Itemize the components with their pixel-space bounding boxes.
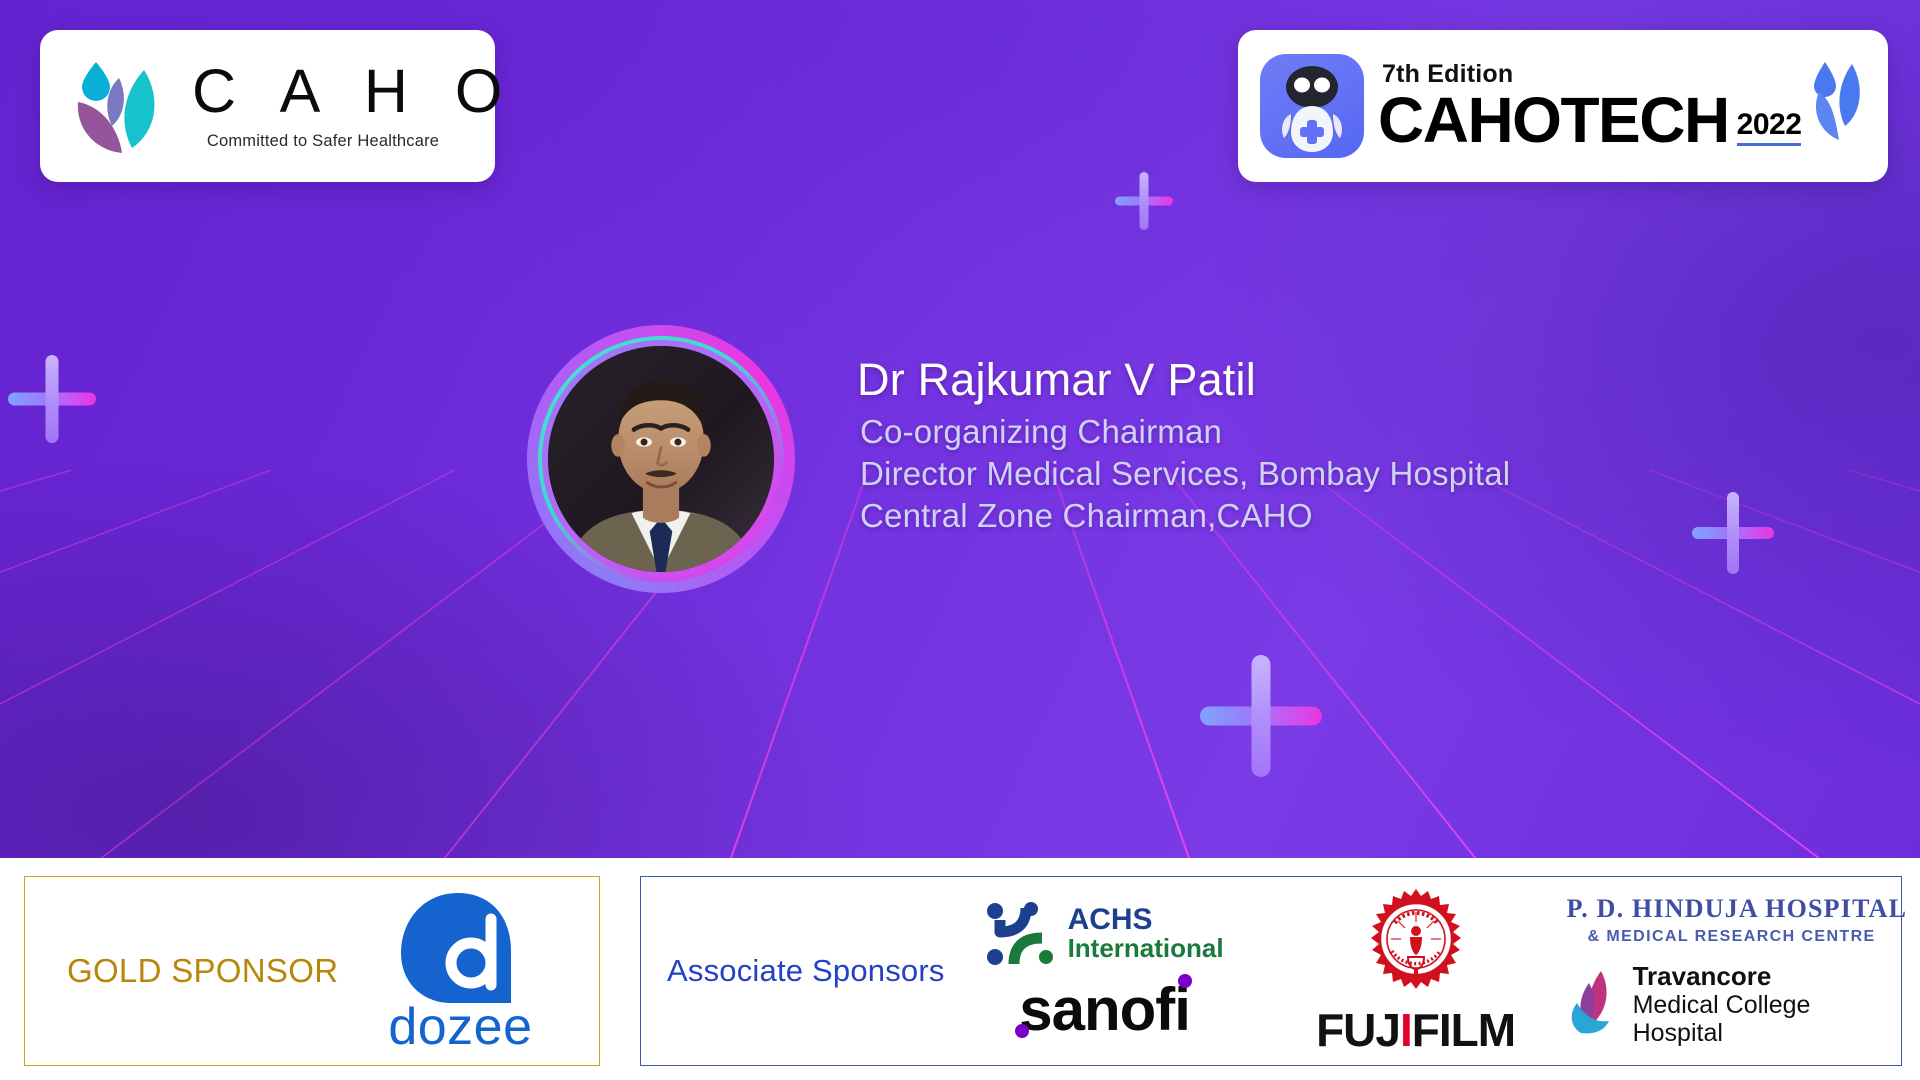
- associate-sponsors-panel: Associate Sponsors: [640, 876, 1902, 1066]
- dozee-droplet-d-icon: [395, 889, 525, 1007]
- speaker-text-block: Dr Rajkumar V Patil Co-organizing Chairm…: [857, 355, 1737, 537]
- plus-center-bottom-icon: [1200, 655, 1322, 777]
- hinduja-line-1: P. D. HINDUJA HOSPITAL: [1567, 895, 1897, 924]
- caho-letters: C A H O: [192, 61, 517, 122]
- achs-line-2: International: [1068, 935, 1224, 962]
- fujifilm-wordmark: FUJIFILM: [1316, 1007, 1515, 1053]
- portrait-inner-ring-violet: [542, 340, 780, 578]
- dozee-wordmark: dozee: [388, 1001, 532, 1053]
- logo-group-hinduja-travancore: P. D. HINDUJA HOSPITAL & MEDICAL RESEARC…: [1567, 895, 1897, 1047]
- sanofi-logo: sanofi: [1019, 980, 1190, 1040]
- speaker-role-line-3: Central Zone Chairman,CAHO: [860, 495, 1737, 537]
- dozee-logo: dozee: [388, 889, 532, 1053]
- associate-sponsor-logos: ACHS International sanofi: [945, 889, 1913, 1053]
- plus-left-middle-icon: [8, 355, 96, 443]
- caho-wordmark: C A H O Committed to Safer Healthcare: [192, 61, 517, 151]
- achs-dots-icon: [986, 902, 1058, 966]
- edition-label: 7th Edition: [1382, 62, 1801, 87]
- cahotech-title: CAHOTECH: [1378, 90, 1729, 151]
- achs-line-1: ACHS: [1068, 905, 1224, 935]
- sanofi-dot-top-icon: [1178, 974, 1192, 988]
- speaker-photo: [548, 346, 774, 572]
- hinduja-line-2: & MEDICAL RESEARCH CENTRE: [1567, 927, 1897, 946]
- gold-sponsor-panel: GOLD SPONSOR dozee: [24, 876, 600, 1066]
- travancore-line-1: Travancore: [1633, 962, 1811, 991]
- speaker-role-lines: Co-organizing Chairman Director Medical …: [857, 411, 1737, 538]
- year-label: 2022: [1737, 110, 1802, 140]
- stage-background: C A H O Committed to Safer Healthcare: [0, 0, 1920, 858]
- travancore-line-3: Hospital: [1633, 1019, 1811, 1047]
- travancore-line-2: Medical College: [1633, 991, 1811, 1019]
- speaker-role-line-2: Director Medical Services, Bombay Hospit…: [860, 453, 1737, 495]
- year-underline: [1737, 143, 1802, 146]
- fujifilm-part-i: I: [1400, 1004, 1412, 1056]
- cahotech-logo-card: 7th Edition CAHOTECH 2022: [1238, 30, 1888, 182]
- logo-group-bombay-fujifilm: FUJIFILM: [1291, 889, 1541, 1053]
- caho-logo-card: C A H O Committed to Safer Healthcare: [40, 30, 495, 182]
- cahotech-text-block: 7th Edition CAHOTECH 2022: [1378, 62, 1801, 151]
- year-block: 2022: [1737, 110, 1802, 146]
- fujifilm-part-b: FILM: [1412, 1004, 1515, 1056]
- speaker-portrait-ring: [527, 325, 795, 593]
- travancore-flame-icon: [1567, 969, 1623, 1039]
- portrait-inner-ring-teal: [538, 336, 784, 582]
- sanofi-wordmark: sanofi: [1019, 980, 1190, 1040]
- plus-top-center-icon: [1115, 172, 1173, 230]
- travancore-logo: Travancore Medical College Hospital: [1567, 962, 1811, 1047]
- caho-leaf-droplet-icon: [66, 54, 184, 158]
- caho-tagline: Committed to Safer Healthcare: [192, 132, 454, 151]
- gold-sponsor-label: GOLD SPONSOR: [67, 952, 338, 990]
- achs-text: ACHS International: [1068, 905, 1224, 962]
- associate-sponsors-label: Associate Sponsors: [667, 953, 945, 989]
- sponsor-bar: GOLD SPONSOR dozee Associate Sponsors: [0, 858, 1920, 1080]
- travancore-text: Travancore Medical College Hospital: [1633, 962, 1811, 1047]
- speaker-name: Dr Rajkumar V Patil: [857, 355, 1737, 405]
- logo-group-achs-sanofi: ACHS International sanofi: [945, 902, 1265, 1040]
- robot-mascot-icon: [1260, 54, 1364, 158]
- blue-flame-droplet-icon: [1805, 58, 1867, 148]
- achs-international-logo: ACHS International: [986, 902, 1224, 966]
- fujifilm-part-a: FUJ: [1316, 1004, 1400, 1056]
- pd-hinduja-hospital-logo: P. D. HINDUJA HOSPITAL & MEDICAL RESEARC…: [1567, 895, 1897, 946]
- bombay-hospital-seal-icon: [1365, 889, 1467, 991]
- speaker-role-line-1: Co-organizing Chairman: [860, 411, 1737, 453]
